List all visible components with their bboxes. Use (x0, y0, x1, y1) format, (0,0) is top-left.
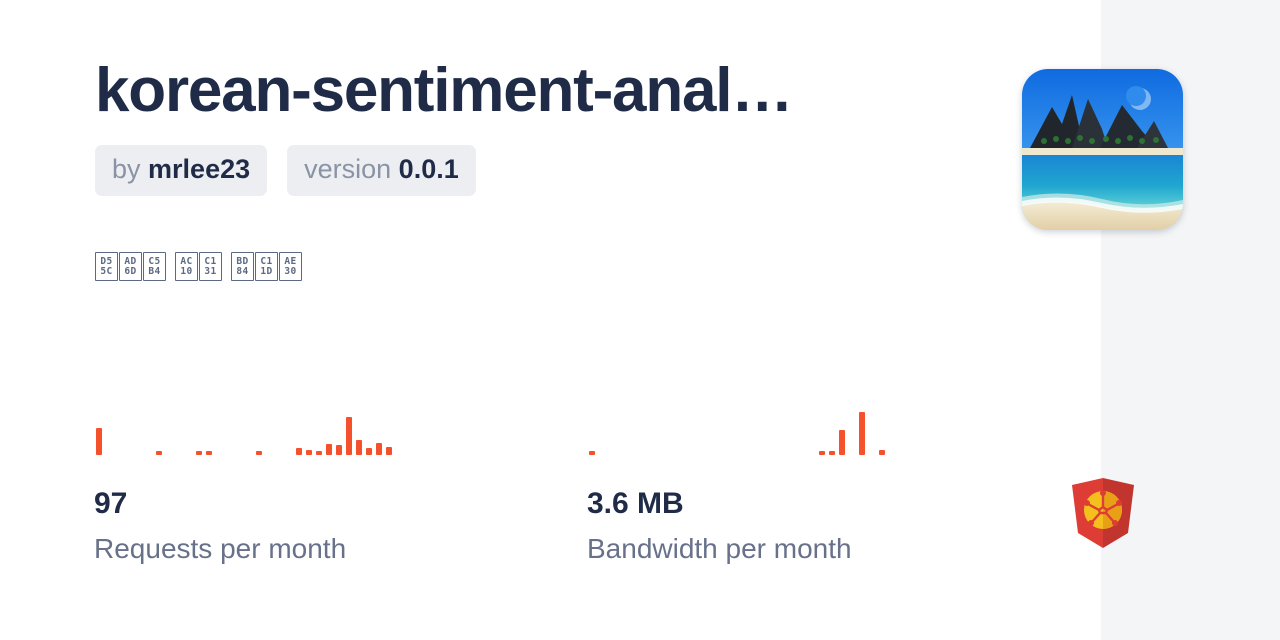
missing-glyph-box: AC10 (175, 252, 198, 281)
sparkline-bar (196, 451, 202, 455)
missing-glyph-box: C11D (255, 252, 278, 281)
stat-value: 3.6 MB (587, 487, 887, 520)
tropical-island-icon (1022, 69, 1183, 230)
description-word: AC10C131 (175, 252, 222, 281)
codepoint-low: 1D (260, 267, 272, 277)
sparkline-bar (829, 451, 835, 455)
description-word: BD84C11DAE30 (231, 252, 302, 281)
sparkline-bar (326, 444, 332, 455)
codepoint-high: C1 (260, 257, 272, 267)
requests-sparkline-chart (94, 400, 394, 455)
missing-glyph-box: AD6D (119, 252, 142, 281)
page-title: korean-sentiment-anal… (95, 58, 925, 123)
sparkline-bar (316, 451, 322, 455)
missing-glyph-box: D55C (95, 252, 118, 281)
sparkline-bar (839, 430, 845, 455)
missing-glyph-box: AE30 (279, 252, 302, 281)
stat-label: Requests per month (94, 534, 394, 565)
sparkline-bar (256, 451, 262, 455)
codepoint-high: C5 (148, 257, 160, 267)
codepoint-low: 5C (100, 267, 112, 277)
missing-glyph-box: C131 (199, 252, 222, 281)
codepoint-high: C1 (204, 257, 216, 267)
codepoint-low: 6D (124, 267, 136, 277)
stat-label: Bandwidth per month (587, 534, 887, 565)
author-badge-name: mrlee23 (148, 154, 250, 184)
codepoint-low: B4 (148, 267, 160, 277)
sparkline-bar (96, 428, 102, 456)
description-word: D55CAD6DC5B4 (95, 252, 166, 281)
codepoint-high: BD (236, 257, 248, 267)
missing-glyph-box: BD84 (231, 252, 254, 281)
codepoint-high: AE (284, 257, 296, 267)
codepoint-high: AD (124, 257, 136, 267)
package-description: D55CAD6DC5B4AC10C131BD84C11DAE30 (95, 252, 302, 281)
sparkline-bar (346, 417, 352, 456)
version-badge: version 0.0.1 (287, 145, 476, 196)
version-badge-value: 0.0.1 (399, 154, 459, 184)
header: korean-sentiment-anal… by mrlee23 versio… (95, 58, 925, 196)
sparkline-bar (376, 443, 382, 455)
sparkline-bar (819, 451, 825, 455)
sparkline-bar (879, 450, 885, 456)
badge-row: by mrlee23 version 0.0.1 (95, 145, 925, 196)
codepoint-low: 30 (284, 267, 296, 277)
stat-requests: 97 Requests per month (94, 400, 394, 565)
author-badge: by mrlee23 (95, 145, 267, 196)
sparkline-bar (336, 445, 342, 455)
author-badge-prefix: by (112, 154, 148, 184)
sparkline-bar (859, 412, 865, 455)
sparkline-bar (206, 451, 212, 455)
codepoint-high: AC (180, 257, 192, 267)
codepoint-low: 10 (180, 267, 192, 277)
version-badge-prefix: version (304, 154, 399, 184)
codepoint-low: 31 (204, 267, 216, 277)
sparkline-bar (356, 440, 362, 455)
codepoint-high: D5 (100, 257, 112, 267)
jsdelivr-shield-logo (1070, 477, 1136, 549)
sparkline-bar (296, 448, 302, 455)
codepoint-low: 84 (236, 267, 248, 277)
missing-glyph-box: C5B4 (143, 252, 166, 281)
sparkline-bar (366, 448, 372, 455)
stat-value: 97 (94, 487, 394, 520)
stat-bandwidth: 3.6 MB Bandwidth per month (587, 400, 887, 565)
sparkline-bar (386, 447, 392, 455)
sparkline-bar (156, 451, 162, 455)
sparkline-bar (589, 451, 595, 455)
sparkline-bar (306, 450, 312, 456)
package-card: korean-sentiment-anal… by mrlee23 versio… (0, 0, 1280, 640)
bandwidth-sparkline-chart (587, 400, 887, 455)
